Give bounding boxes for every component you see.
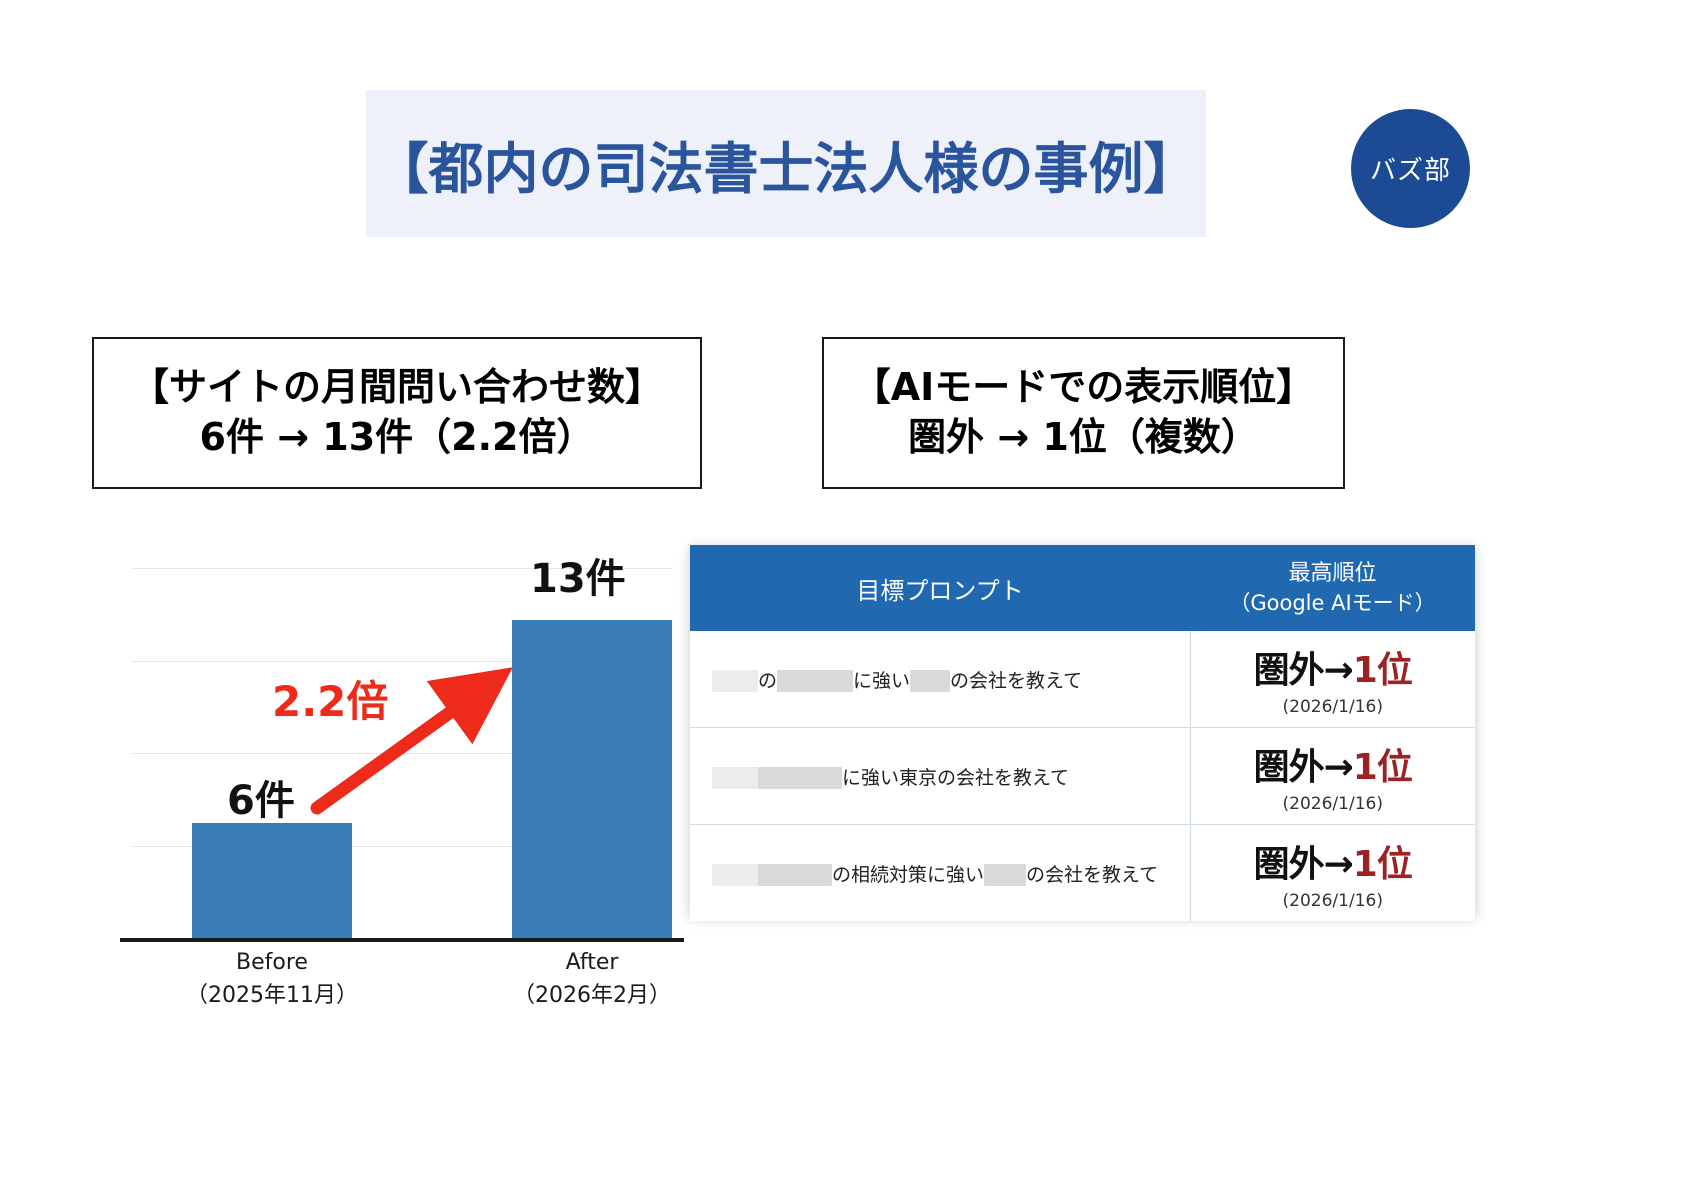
table-row: に強い東京の会社を教えて圏外→1位(2026/1/16) [690, 728, 1475, 825]
cell-rank: 圏外→1位(2026/1/16) [1190, 728, 1475, 825]
slide-canvas: 【都内の司法書士法人様の事例】 バズ部 【サイトの月間問い合わせ数】 6件 → … [0, 0, 1684, 1184]
x-tick-after-sub: （2026年2月） [492, 979, 692, 1012]
x-tick-after-main: After [566, 950, 619, 975]
rank-date: (2026/1/16) [1197, 891, 1470, 911]
page-title: 【都内の司法書士法人様の事例】 [373, 124, 1198, 204]
rank-before-value: 圏外→ [1254, 747, 1353, 788]
column-header-prompt: 目標プロンプト [690, 545, 1190, 631]
prompt-text: の相続対策に強い [832, 864, 984, 886]
ranking-table: 目標プロンプト 最高順位 （Google AIモード） のに強いの会社を教えて圏… [690, 545, 1475, 921]
growth-arrow-icon [132, 568, 672, 938]
title-banner: 【都内の司法書士法人様の事例】 [366, 90, 1206, 237]
redacted-block [777, 670, 853, 692]
redacted-block [712, 767, 758, 789]
prompt-text: の会社を教えて [950, 670, 1082, 692]
x-axis-labels: Before （2025年11月） After （2026年2月） [132, 946, 672, 1036]
cell-prompt: に強い東京の会社を教えて [690, 728, 1190, 825]
column-header-rank-line2: （Google AIモード） [1196, 589, 1469, 617]
caption-right-metric: 圏外 → 1位（複数） [908, 414, 1259, 462]
rank-date: (2026/1/16) [1197, 794, 1470, 814]
chart-plot-area: 2.2倍 6件 13件 [132, 568, 672, 938]
rank-after-value: 1位 [1353, 650, 1412, 691]
x-tick-after: After （2026年2月） [492, 946, 692, 1012]
redacted-block [758, 767, 842, 789]
rank-change-value: 圏外→1位 [1197, 738, 1470, 790]
redacted-block [712, 864, 758, 886]
brand-logo: バズ部 [1351, 109, 1470, 228]
x-axis-line [120, 938, 684, 942]
caption-left-metric: 6件 → 13件（2.2倍） [200, 414, 595, 462]
prompt-text: に強い [853, 670, 910, 692]
column-header-rank: 最高順位 （Google AIモード） [1190, 545, 1475, 631]
rank-date: (2026/1/16) [1197, 697, 1470, 717]
bar-value-after: 13件 [530, 546, 626, 604]
x-tick-before: Before （2025年11月） [172, 946, 372, 1012]
brand-logo-label: バズ部 [1370, 150, 1451, 187]
x-tick-before-sub: （2025年11月） [172, 979, 372, 1012]
growth-rate-label: 2.2倍 [272, 668, 388, 729]
cell-prompt: のに強いの会社を教えて [690, 631, 1190, 728]
x-tick-before-main: Before [236, 950, 308, 975]
redacted-block [984, 864, 1026, 886]
table-row: の相続対策に強いの会社を教えて圏外→1位(2026/1/16) [690, 825, 1475, 922]
table-row: のに強いの会社を教えて圏外→1位(2026/1/16) [690, 631, 1475, 728]
prompt-text: の [758, 670, 777, 692]
cell-prompt: の相続対策に強いの会社を教えて [690, 825, 1190, 922]
column-header-rank-line1: 最高順位 [1288, 561, 1376, 586]
ranking-table-card: 目標プロンプト 最高順位 （Google AIモード） のに強いの会社を教えて圏… [690, 545, 1475, 915]
caption-left-title: 【サイトの月間問い合わせ数】 [131, 365, 663, 410]
caption-box-ai-rank: 【AIモードでの表示順位】 圏外 → 1位（複数） [822, 337, 1345, 489]
redacted-block [712, 670, 758, 692]
redacted-block [910, 670, 950, 692]
rank-before-value: 圏外→ [1254, 650, 1353, 691]
rank-change-value: 圏外→1位 [1197, 835, 1470, 887]
rank-before-value: 圏外→ [1254, 844, 1353, 885]
prompt-text: の会社を教えて [1026, 864, 1158, 886]
cell-rank: 圏外→1位(2026/1/16) [1190, 825, 1475, 922]
rank-after-value: 1位 [1353, 844, 1412, 885]
bar-value-before: 6件 [227, 768, 295, 826]
bar-chart: 2.2倍 6件 13件 Before （2025年11月） After （202… [92, 528, 672, 998]
prompt-text: に強い東京の会社を教えて [842, 767, 1069, 789]
table-body: のに強いの会社を教えて圏外→1位(2026/1/16)に強い東京の会社を教えて圏… [690, 631, 1475, 921]
redacted-block [758, 864, 832, 886]
caption-box-inquiries: 【サイトの月間問い合わせ数】 6件 → 13件（2.2倍） [92, 337, 702, 489]
rank-change-value: 圏外→1位 [1197, 641, 1470, 693]
caption-right-title: 【AIモードでの表示順位】 [853, 365, 1315, 410]
table-header-row: 目標プロンプト 最高順位 （Google AIモード） [690, 545, 1475, 631]
rank-after-value: 1位 [1353, 747, 1412, 788]
cell-rank: 圏外→1位(2026/1/16) [1190, 631, 1475, 728]
